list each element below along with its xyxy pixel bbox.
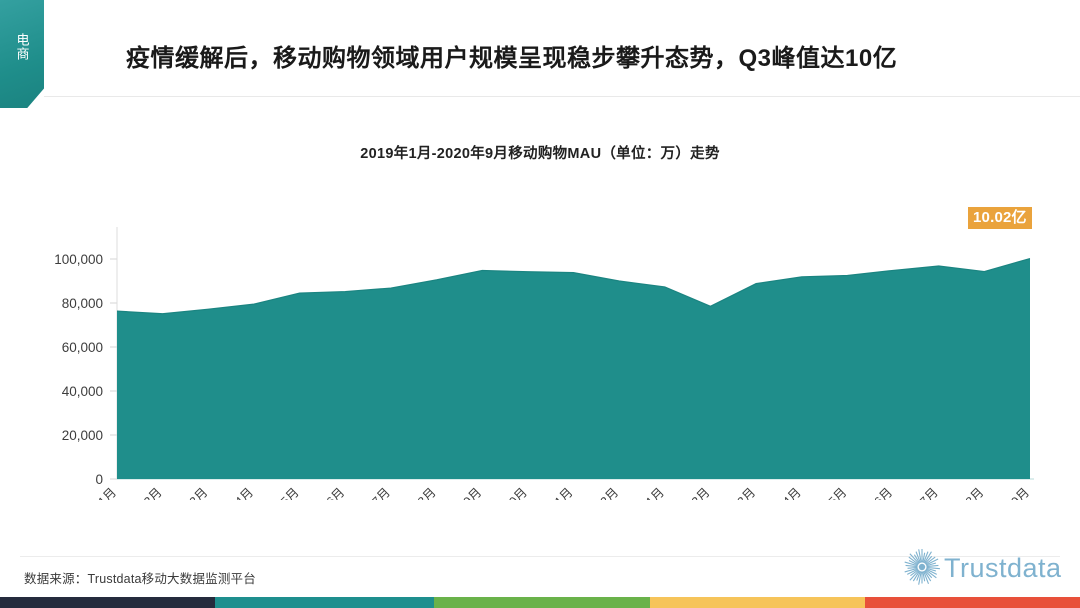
title-divider: [44, 96, 1080, 97]
bottom-bar-segment-green: [434, 597, 649, 608]
bottom-color-bar: [0, 597, 1080, 608]
area-series: [117, 259, 1030, 479]
y-axis-label: 0: [95, 472, 103, 487]
x-axis-label: 10月: [501, 485, 530, 500]
x-axis-label: 3月: [735, 485, 759, 500]
x-axis-label: 3月: [187, 485, 211, 500]
sunburst-icon: [905, 549, 940, 585]
category-tab-label: 电商: [14, 33, 31, 75]
bottom-bar-segment-red: [865, 597, 1080, 608]
x-axis-label: 7月: [369, 485, 393, 500]
x-axis-label: 6月: [872, 485, 896, 500]
y-axis-label: 80,000: [62, 296, 103, 311]
bottom-bar-segment-gold: [650, 597, 865, 608]
x-axis-label: 2月: [141, 485, 165, 500]
trustdata-wordmark: Trustdata: [944, 553, 1062, 583]
x-axis-label: 2020年1月: [615, 485, 667, 500]
x-axis-label: 9月: [1008, 485, 1032, 500]
x-axis-label: 5月: [278, 485, 302, 500]
page-title: 疫情缓解后，移动购物领域用户规模呈现稳步攀升态势，Q3峰值达10亿: [126, 38, 1040, 73]
y-axis-label: 100,000: [54, 252, 103, 267]
y-axis-label: 20,000: [62, 428, 103, 443]
peak-value-callout: 10.02亿: [968, 207, 1032, 229]
area-chart: 020,00040,00060,00080,000100,0002019年1月2…: [0, 190, 1080, 500]
trustdata-logo-mark: Trustdata: [898, 545, 1066, 591]
y-axis-label: 40,000: [62, 384, 103, 399]
chart-title: 2019年1月-2020年9月移动购物MAU（单位：万）走势: [0, 142, 1080, 163]
x-axis-label: 4月: [232, 485, 256, 500]
data-source-note: 数据来源：Trustdata移动大数据监测平台: [24, 568, 256, 587]
x-axis-label: 8月: [963, 485, 987, 500]
x-axis-label: 2月: [689, 485, 713, 500]
trustdata-logo: Trustdata: [898, 545, 1066, 591]
x-axis-label: 9月: [461, 485, 485, 500]
x-axis-label: 11月: [548, 485, 576, 500]
y-axis-label: 60,000: [62, 340, 103, 355]
x-axis-label: 7月: [917, 485, 941, 500]
bottom-bar-segment-teal: [215, 597, 434, 608]
x-axis-label: 6月: [324, 485, 348, 500]
x-axis-label: 4月: [780, 485, 804, 500]
category-tab: 电商: [0, 0, 44, 108]
x-axis-label: 2019年1月: [67, 485, 119, 500]
x-axis-label: 12月: [593, 485, 622, 500]
x-axis-label: 8月: [415, 485, 439, 500]
sunburst-core: [919, 564, 925, 570]
x-axis-label: 5月: [826, 485, 850, 500]
bottom-bar-segment-navy: [0, 597, 215, 608]
chart-plot-area: 020,00040,00060,00080,000100,0002019年1月2…: [0, 190, 1080, 500]
